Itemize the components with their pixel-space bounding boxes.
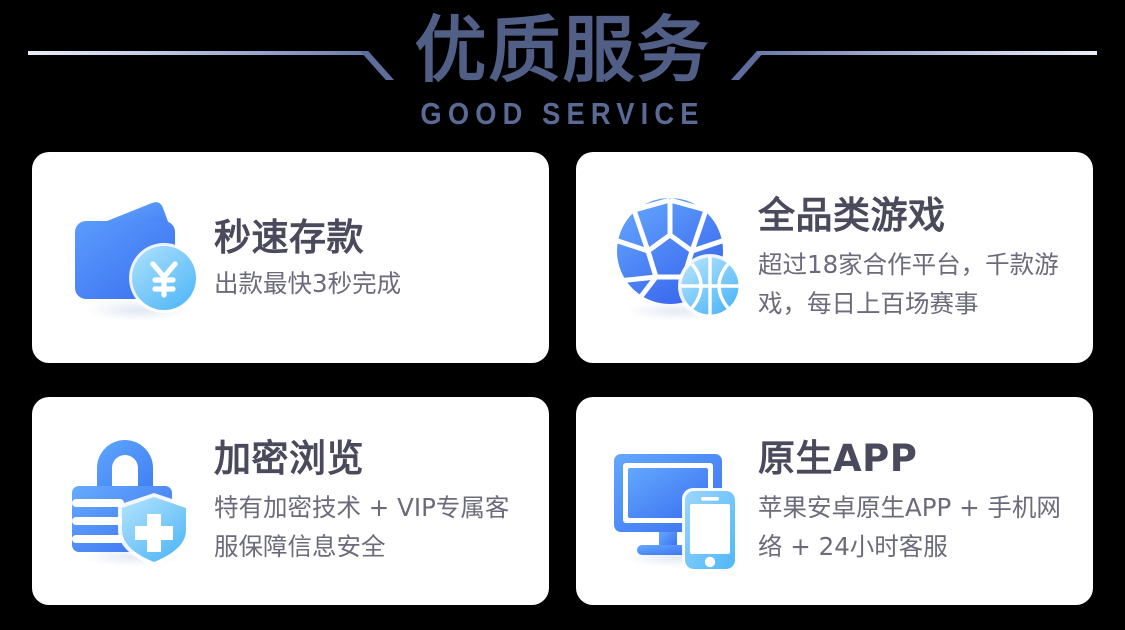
feature-card-native-app[interactable]: 原生APP 苹果安卓原生APP + 手机网络 + 24小时客服: [576, 397, 1093, 605]
card-description: 超过18家合作平台，千款游戏，每日上百场赛事: [758, 245, 1075, 323]
monitor-phone-icon: [604, 426, 754, 576]
card-text-block: 加密浏览 特有加密技术 + VIP专属客服保障信息安全: [210, 436, 549, 566]
lock-shield-icon: [60, 426, 210, 576]
feature-card-deposit[interactable]: 秒速存款 出款最快3秒完成: [32, 152, 549, 363]
card-title: 全品类游戏: [758, 193, 1075, 239]
page-title: 优质服务: [0, 8, 1125, 92]
card-text-block: 秒速存款 出款最快3秒完成: [210, 215, 549, 301]
card-text-block: 原生APP 苹果安卓原生APP + 手机网络 + 24小时客服: [754, 436, 1093, 566]
card-text-block: 全品类游戏 超过18家合作平台，千款游戏，每日上百场赛事: [754, 193, 1093, 323]
wallet-yen-icon: [60, 183, 210, 333]
card-description: 苹果安卓原生APP + 手机网络 + 24小时客服: [758, 488, 1075, 566]
soccer-basketball-icon: [604, 183, 754, 333]
card-description: 出款最快3秒完成: [214, 267, 531, 301]
card-title: 秒速存款: [214, 215, 531, 261]
promo-banner: 优质服务 GOOD SERVICE: [0, 0, 1125, 630]
card-description: 特有加密技术 + VIP专属客服保障信息安全: [214, 488, 531, 566]
feature-card-encryption[interactable]: 加密浏览 特有加密技术 + VIP专属客服保障信息安全: [32, 397, 549, 605]
feature-card-grid: 秒速存款 出款最快3秒完成: [32, 152, 1093, 605]
header: 优质服务 GOOD SERVICE: [0, 0, 1125, 142]
card-title: 原生APP: [758, 436, 1075, 482]
card-title: 加密浏览: [214, 436, 531, 482]
page-subtitle: GOOD SERVICE: [68, 96, 1058, 132]
feature-card-games[interactable]: 全品类游戏 超过18家合作平台，千款游戏，每日上百场赛事: [576, 152, 1093, 363]
